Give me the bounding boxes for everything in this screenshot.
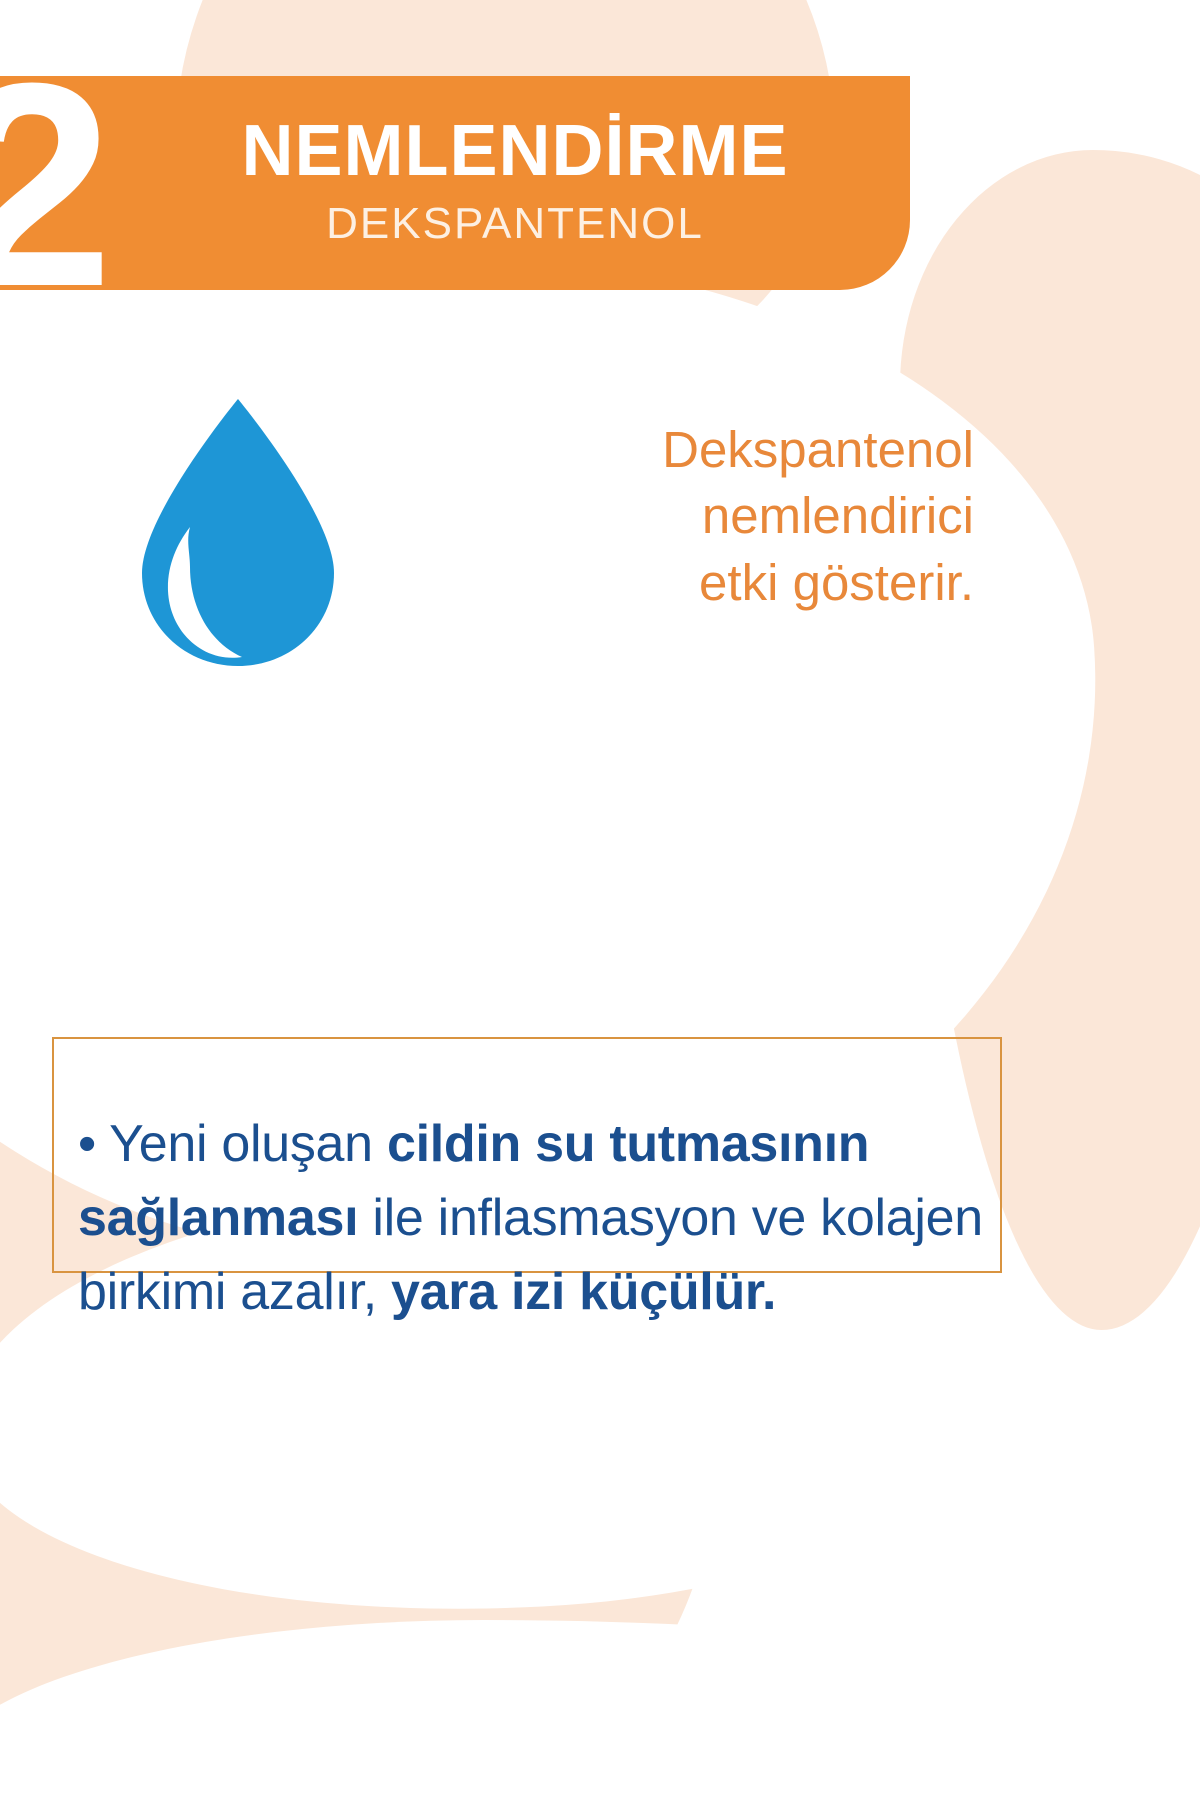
water-droplet-icon xyxy=(138,395,338,670)
headline-line-2: nemlendirici xyxy=(534,483,974,549)
feature-row: Dekspantenol nemlendirici etki gösterir. xyxy=(0,395,1010,685)
headline-line-3: etki gösterir. xyxy=(534,550,974,616)
feature-headline: Dekspantenol nemlendirici etki gösterir. xyxy=(534,417,974,616)
header-text-group: NEMLENDİRME DEKSPANTENOL xyxy=(0,76,900,290)
page-subtitle: DEKSPANTENOL xyxy=(326,196,704,251)
info-box-text: • Yeni oluşan cildin su tutmasının sağla… xyxy=(78,1108,1018,1329)
poster-root: 2 NEMLENDİRME DEKSPANTENOL Dekspantenol … xyxy=(0,0,1200,1800)
page-title: NEMLENDİRME xyxy=(242,115,789,188)
info-segment-1: • Yeni oluşan xyxy=(78,1115,387,1173)
info-segment-4: yara izi küçülür. xyxy=(391,1263,776,1321)
headline-line-1: Dekspantenol xyxy=(534,417,974,483)
